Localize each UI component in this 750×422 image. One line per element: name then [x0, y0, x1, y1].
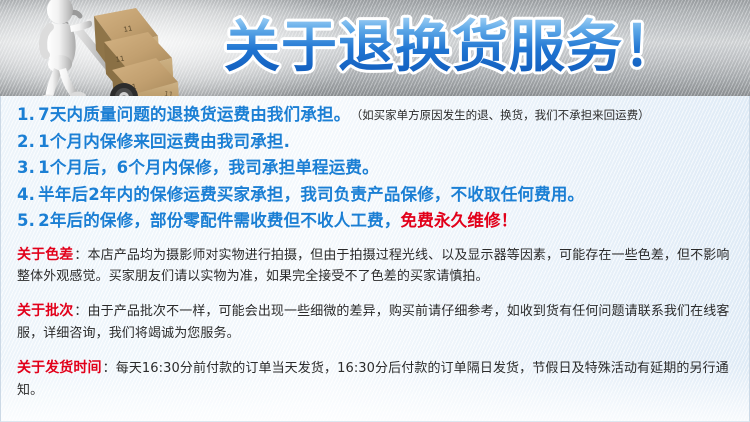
return-policy-banner: 11 11 11 11: [0, 0, 750, 422]
policy-number: 4.: [17, 187, 35, 204]
banner-title-text: 关于退换货服务！: [218, 4, 746, 92]
header-banner: 11 11 11 11: [0, 0, 750, 96]
section-body: 由于产品批次不一样，可能会出现一些细微的差异，购买前请仔细参考，如收到货有任何问…: [17, 304, 729, 341]
section-heading: 关于批次: [17, 303, 73, 319]
section-body: 每天16:30分前付款的订单当天发货，16:30分后付款的订单隔日发货，节假日及…: [17, 361, 729, 398]
policy-text: 半年后2年内的保修运费买家承担，我司负责产品保修，不收取任何费用。: [38, 185, 584, 204]
section-shipping-time: 关于发货时间：每天16:30分前付款的订单当天发货，16:30分后付款的订单隔日…: [17, 357, 735, 401]
policy-list: 1.7天内质量问题的退换货运费由我们承担。（如买家单方原因发生的退、换货，我们不…: [17, 107, 735, 230]
policy-item-1: 1.7天内质量问题的退换货运费由我们承担。（如买家单方原因发生的退、换货，我们不…: [17, 107, 735, 124]
section-body: 本店产品均为摄影师对实物进行拍摄，但由于拍摄过程光线、以及显示器等因素，可能存在…: [17, 248, 729, 285]
policy-body-panel: 1.7天内质量问题的退换货运费由我们承担。（如买家单方原因发生的退、换货，我们不…: [0, 96, 750, 422]
policy-item-3: 3.1个月后，6个月内保修，我司承担单程运费。: [17, 160, 735, 177]
box-label: 11: [164, 90, 174, 96]
policy-text: 2年后的保修，部份零配件需收费但不收人工费，: [38, 211, 400, 230]
policy-note: （如买家单方原因发生的退、换货，我们不承担来回运费）: [356, 108, 649, 122]
policy-item-2: 2.1个月内保修来回运费由我司承担.: [17, 134, 735, 151]
section-heading: 关于色差: [17, 247, 73, 263]
porter-illustration: 11 11 11 11: [8, 0, 223, 96]
section-colon: ：: [74, 248, 87, 263]
policy-content: 1.7天内质量问题的退换货运费由我们承担。（如买家单方原因发生的退、换货，我们不…: [1, 96, 749, 401]
policy-text: 1个月内保修来回运费由我司承担.: [38, 132, 290, 151]
policy-number: 1.: [17, 107, 35, 124]
porter-icon: 11 11 11 11: [8, 0, 223, 96]
banner-title: 关于退换货服务！: [218, 4, 746, 92]
policy-highlight: 免费永久维修！: [401, 211, 518, 230]
policy-item-5: 5.2年后的保修，部份零配件需收费但不收人工费，免费永久维修！: [17, 213, 735, 230]
box-label: 11: [115, 55, 125, 64]
mannequin-figure: [40, 0, 92, 96]
cardboard-boxes: 11 11 11 11: [94, 8, 179, 96]
section-color-difference: 关于色差：本店产品均为摄影师对实物进行拍摄，但由于拍摄过程光线、以及显示器等因素…: [17, 244, 735, 288]
section-batch: 关于批次：由于产品批次不一样，可能会出现一些细微的差异，购买前请仔细参考，如收到…: [17, 300, 735, 344]
banner-title-label: 关于退换货服务！: [224, 15, 680, 80]
policy-text: 7天内质量问题的退换货运费由我们承担。: [38, 105, 350, 124]
policy-item-4: 4.半年后2年内的保修运费买家承担，我司负责产品保修，不收取任何费用。: [17, 187, 735, 204]
policy-number: 5.: [17, 213, 35, 230]
policy-text: 1个月后，6个月内保修，我司承担单程运费。: [38, 158, 379, 177]
policy-number: 2.: [17, 134, 35, 151]
box-label: 11: [123, 24, 133, 34]
policy-number: 3.: [17, 160, 35, 177]
section-colon: ：: [74, 304, 87, 319]
section-heading: 关于发货时间: [17, 360, 102, 376]
section-colon: ：: [103, 361, 116, 376]
